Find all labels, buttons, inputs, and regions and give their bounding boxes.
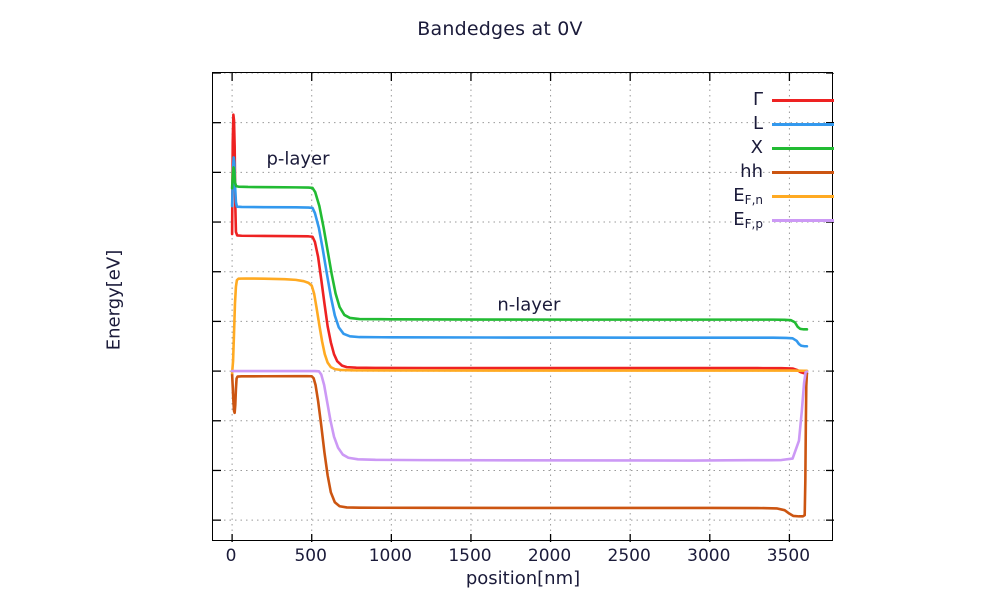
legend-item-6[interactable]: EF,p bbox=[686, 208, 834, 232]
legend-item-4[interactable]: hh bbox=[686, 160, 834, 184]
chart-title: Bandedges at 0V bbox=[0, 18, 1000, 40]
series-line-4 bbox=[232, 373, 807, 516]
legend: ΓLXhhEF,nEF,p bbox=[686, 88, 834, 232]
y-axis-label: Energy[eV] bbox=[104, 180, 125, 420]
legend-label: X bbox=[751, 139, 772, 157]
legend-color-swatch bbox=[772, 99, 834, 102]
series-line-5 bbox=[232, 278, 807, 373]
legend-label: Γ bbox=[753, 91, 772, 109]
annotation-n-layer: n-layer bbox=[497, 294, 560, 315]
legend-label: EF,p bbox=[733, 211, 772, 229]
legend-item-5[interactable]: EF,n bbox=[686, 184, 834, 208]
legend-label: hh bbox=[740, 163, 772, 181]
legend-color-swatch bbox=[772, 219, 834, 222]
annotation-p-layer: p-layer bbox=[266, 149, 329, 170]
legend-color-swatch bbox=[772, 195, 834, 198]
chart-figure: Bandedges at 0V Energy[eV] position[nm] … bbox=[0, 0, 1000, 600]
series-line-6 bbox=[232, 371, 807, 460]
legend-item-1[interactable]: Γ bbox=[686, 88, 834, 112]
legend-label: EF,n bbox=[733, 187, 772, 205]
legend-label: L bbox=[753, 115, 772, 133]
x-axis-label: position[nm] bbox=[212, 568, 834, 589]
legend-color-swatch bbox=[772, 147, 834, 150]
legend-item-3[interactable]: X bbox=[686, 136, 834, 160]
legend-item-2[interactable]: L bbox=[686, 112, 834, 136]
legend-color-swatch bbox=[772, 171, 834, 174]
legend-color-swatch bbox=[772, 123, 834, 126]
x-tick-label: 3500 bbox=[728, 546, 848, 566]
